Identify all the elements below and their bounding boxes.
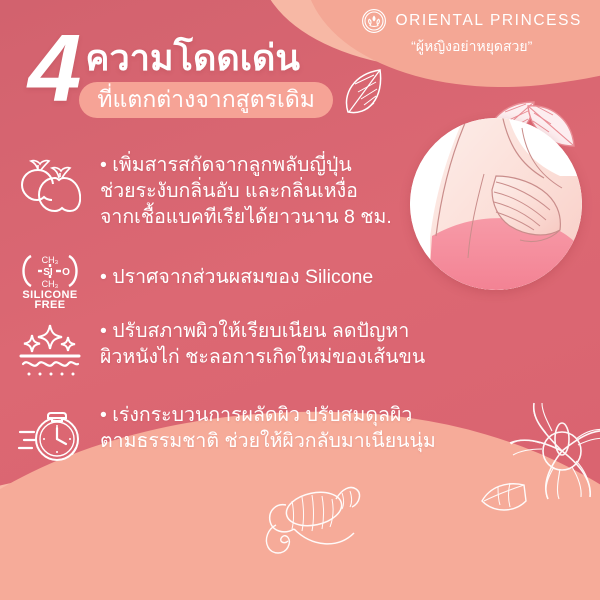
list-item: • เร่งกระบวนการผลัดผิว ปรับสมดุลผิว ตามธ…: [0, 402, 600, 474]
feature-list: • เพิ่มสารสกัดจากลูกพลับญี่ปุ่น ช่วยระงั…: [0, 152, 600, 482]
list-item: CH₃ SI O CH₃ SILICONE FREE • ปราศจากส่วน…: [0, 244, 600, 310]
list-item-line: • เพิ่มสารสกัดจากลูกพลับญี่ปุ่น: [100, 152, 586, 178]
poster-canvas: ORIENTAL PRINCESS “ผู้หญิงอย่าหยุดสวย” 4…: [0, 0, 600, 600]
list-item: • ปรับสภาพผิวให้เรียบเนียน ลดปัญหา ผิวหน…: [0, 318, 600, 390]
headline-text-stack: ความโดดเด่น ที่แตกต่างจากสูตรเดิม: [85, 38, 333, 118]
two-plums-icon: [0, 152, 100, 214]
list-item-line: • เร่งกระบวนการผลัดผิว ปรับสมดุลผิว: [100, 402, 586, 428]
stopwatch-icon: [0, 402, 100, 466]
headline-subtitle: ที่แตกต่างจากสูตรเดิม: [97, 86, 315, 112]
list-item-text: • เร่งกระบวนการผลัดผิว ปรับสมดุลผิว ตามธ…: [100, 402, 600, 454]
list-item-text: • เพิ่มสารสกัดจากลูกพลับญี่ปุ่น ช่วยระงั…: [100, 152, 600, 230]
list-item-line: ตามธรรมชาติ ช่วยให้ผิวกลับมาเนียนนุ่ม: [100, 428, 586, 454]
list-item-line: • ปรับสภาพผิวให้เรียบเนียน ลดปัญหา: [100, 318, 586, 344]
list-item-line: • ปราศจากส่วนผสมของ Silicone: [100, 264, 586, 290]
leaf-icon: [340, 66, 386, 127]
brand-row: ORIENTAL PRINCESS: [361, 8, 582, 34]
brand-header: ORIENTAL PRINCESS “ผู้หญิงอย่าหยุดสวย”: [361, 8, 582, 58]
silicone-icon-o: O: [62, 267, 70, 278]
brand-name: ORIENTAL PRINCESS: [395, 12, 582, 30]
headline-subtitle-pill: ที่แตกต่างจากสูตรเดิม: [79, 82, 333, 118]
list-item-text: • ปรับสภาพผิวให้เรียบเนียน ลดปัญหา ผิวหน…: [100, 318, 600, 370]
list-item-line: จากเชื้อแบคทีเรียได้ยาวนาน 8 ชม.: [100, 204, 586, 230]
sparkle-smooth-skin-icon: [0, 318, 100, 378]
page-title: ความโดดเด่น: [85, 38, 333, 78]
brand-slogan: “ผู้หญิงอย่าหยุดสวย”: [361, 36, 582, 58]
list-item: • เพิ่มสารสกัดจากลูกพลับญี่ปุ่น ช่วยระงั…: [0, 152, 600, 230]
list-item-line: ช่วยระงับกลิ่นอับ และกลิ่นเหงื่อ: [100, 178, 586, 204]
headline-number: 4: [28, 32, 81, 106]
headline-block: 4 ความโดดเด่น ที่แตกต่างจากสูตรเดิม: [28, 32, 333, 118]
list-item-text: • ปราศจากส่วนผสมของ Silicone: [100, 264, 600, 290]
list-item-line: ผิวหนังไก่ ชะลอการเกิดใหม่ของเส้นขน: [100, 344, 586, 370]
silicone-icon-ch3-bottom: CH₃: [42, 279, 59, 289]
silicone-free-icon: CH₃ SI O CH₃ SILICONE FREE: [0, 244, 100, 310]
silicone-icon-word-free: FREE: [35, 299, 66, 310]
silicone-icon-si: SI: [43, 267, 53, 278]
silicone-icon-ch3-top: CH₃: [42, 255, 59, 265]
lotus-emblem-icon: [361, 8, 387, 34]
